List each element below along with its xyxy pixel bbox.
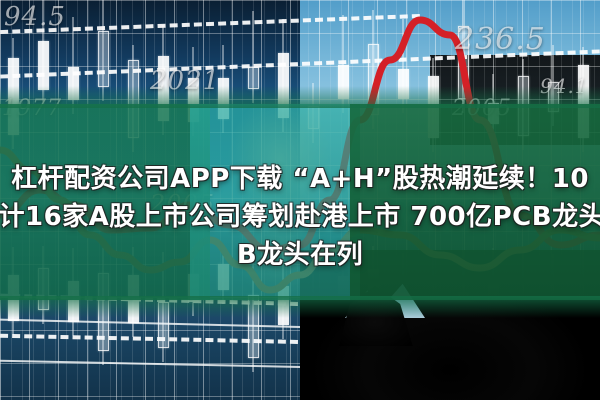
headline-text: 杠杆配资公司APP下载 “A+H”股热潮延续！10 累计16家A股上市公司筹划赴…: [0, 160, 600, 274]
headline-line-3: B龙头在列: [0, 236, 600, 274]
headline-line-2: 累计16家A股上市公司筹划赴港上市 700亿PCB龙头在: [0, 198, 600, 236]
news-banner: 94.52021236.519772005200594.1 杠杆配资公司APP下…: [0, 0, 600, 400]
headline-line-1: 杠杆配资公司APP下载 “A+H”股热潮延续！10: [0, 160, 600, 198]
